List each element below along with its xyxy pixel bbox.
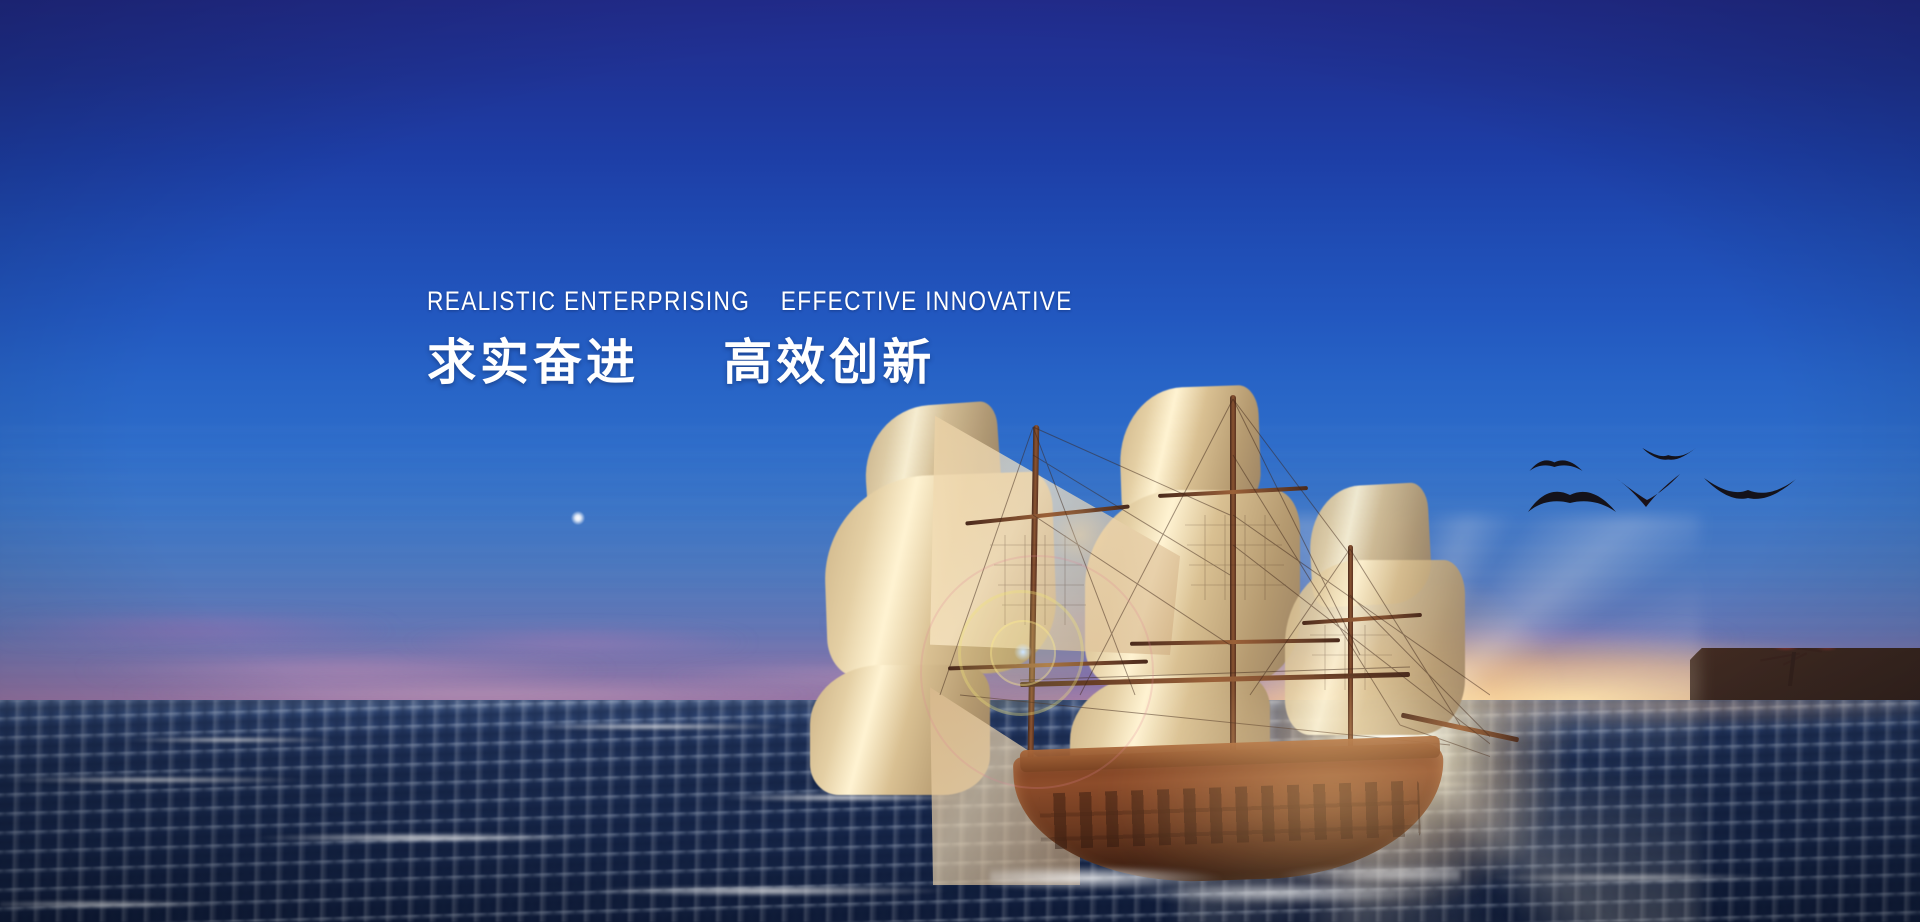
evening-star-icon bbox=[571, 511, 585, 525]
bird-icon bbox=[1528, 457, 1584, 477]
bird-icon bbox=[1613, 466, 1683, 510]
tree-canopy bbox=[1764, 648, 1836, 656]
slogan-english: REALISTIC ENTERPRISING EFFECTIVE INNOVAT… bbox=[427, 288, 1065, 315]
tree-trunk bbox=[1788, 652, 1796, 686]
slogan-block: REALISTIC ENTERPRISING EFFECTIVE INNOVAT… bbox=[427, 288, 1187, 392]
lone-tree-icon bbox=[1760, 648, 1838, 686]
sailing-ship bbox=[930, 395, 1490, 865]
bird-icon bbox=[1526, 486, 1618, 520]
bird-flock bbox=[1520, 440, 1830, 555]
mizzenmast-main-sail bbox=[1285, 560, 1465, 735]
hero-banner: REALISTIC ENTERPRISING EFFECTIVE INNOVAT… bbox=[0, 0, 1920, 922]
bird-icon bbox=[1641, 444, 1697, 463]
bird-icon bbox=[1702, 470, 1798, 506]
slogan-chinese: 求实奋进 高效创新 bbox=[427, 335, 1187, 392]
